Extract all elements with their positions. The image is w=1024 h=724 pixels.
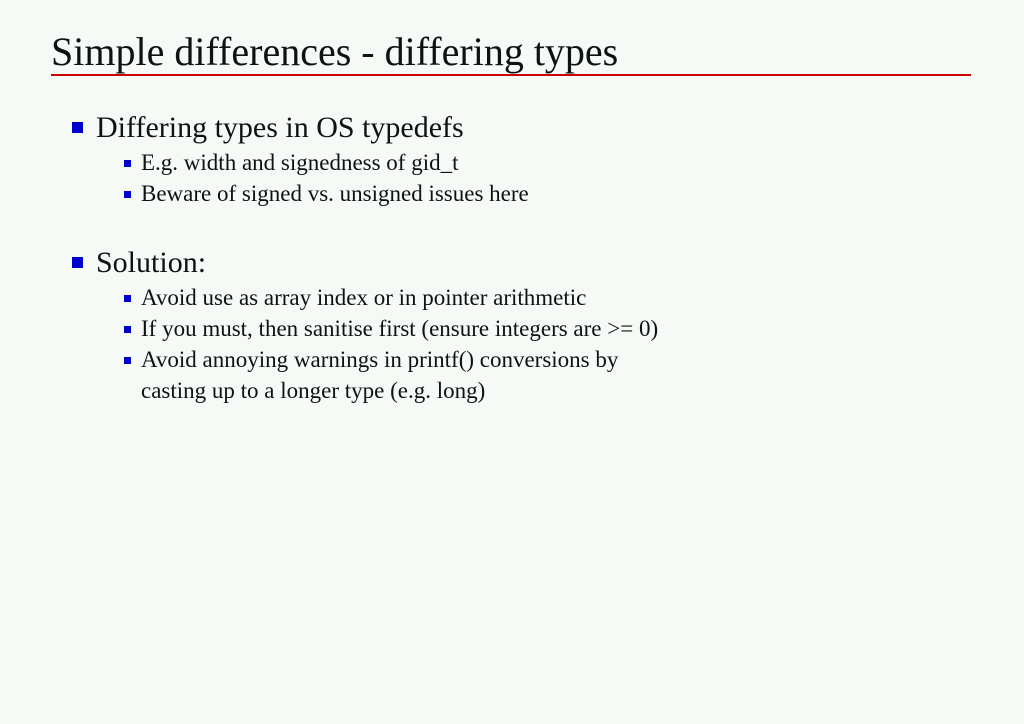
bullet-level2-label: If you must, then sanitise first (ensure… [141, 313, 1024, 344]
square-bullet-icon [72, 257, 83, 268]
bullet-level1-label: Solution: [96, 246, 206, 279]
small-square-bullet-icon [124, 326, 131, 333]
bullet-level2: Avoid annoying warnings in printf() conv… [0, 344, 1024, 406]
small-square-bullet-icon [124, 295, 131, 302]
bullet-level2-continuation: casting up to a longer type (e.g. long) [141, 378, 485, 403]
bullet-level2-label: E.g. width and signedness of gid_t [141, 147, 1024, 178]
small-square-bullet-icon [124, 160, 131, 167]
bullet-level2-label: Beware of signed vs. unsigned issues her… [141, 178, 1024, 209]
small-square-bullet-icon [124, 191, 131, 198]
bullet-group: Differing types in OS typedefs E.g. widt… [0, 108, 1024, 209]
bullet-level2: Beware of signed vs. unsigned issues her… [0, 178, 1024, 209]
bullet-level1: Differing types in OS typedefs [0, 108, 1024, 147]
bullet-level2-label: Avoid annoying warnings in printf() conv… [141, 344, 1024, 375]
bullet-group: Solution: Avoid use as array index or in… [0, 243, 1024, 406]
square-bullet-icon [72, 122, 83, 133]
bullet-level2-label: Avoid use as array index or in pointer a… [141, 282, 1024, 313]
small-square-bullet-icon [124, 357, 131, 364]
title-underline-rule [51, 74, 971, 76]
bullet-level1: Solution: [0, 243, 1024, 282]
bullet-level2: E.g. width and signedness of gid_t [0, 147, 1024, 178]
slide-title-block: Simple differences - differing types [51, 29, 971, 75]
bullet-level1-label: Differing types in OS typedefs [96, 111, 464, 144]
page-title: Simple differences - differing types [51, 29, 971, 75]
slide-body: Differing types in OS typedefs E.g. widt… [0, 108, 1024, 406]
bullet-level2: Avoid use as array index or in pointer a… [0, 282, 1024, 313]
presentation-slide: Simple differences - differing types Dif… [0, 0, 1024, 724]
bullet-level2: If you must, then sanitise first (ensure… [0, 313, 1024, 344]
